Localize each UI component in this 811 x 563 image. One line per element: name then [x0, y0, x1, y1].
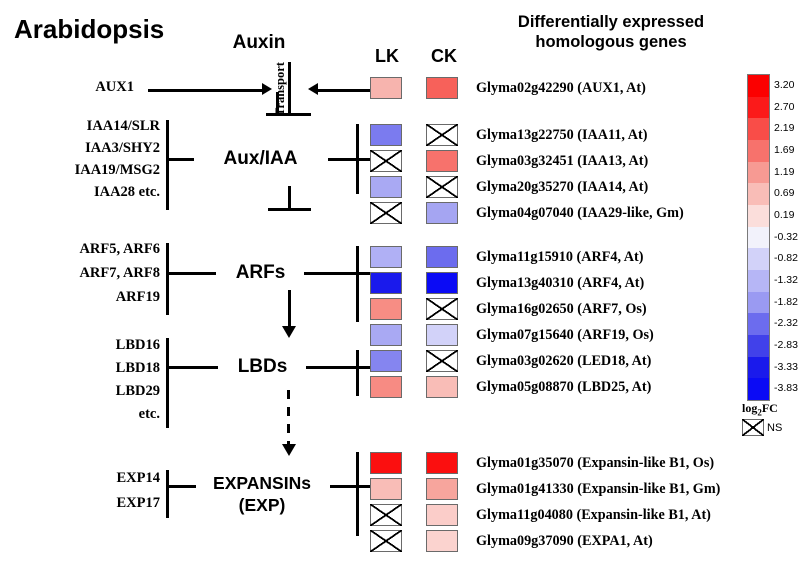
colorbar-tick-label: -2.32 — [774, 317, 798, 329]
heatmap-cell-ck[interactable] — [426, 452, 458, 474]
heatmap-block-arfs: Glyma11g15910 (ARF4, At)Glyma13g40310 (A… — [370, 246, 654, 350]
colorbar-segment — [748, 162, 769, 184]
heatmap-block-lbds: Glyma03g02620 (LED18, At)Glyma05g08870 (… — [370, 350, 651, 402]
gene-id-label: Glyma07g15640 (ARF19, Os) — [476, 327, 654, 344]
gene-id-label: Glyma05g08870 (LBD25, At) — [476, 379, 651, 396]
gene-id-label: Glyma01g35070 (Expansin-like B1, Os) — [476, 455, 714, 472]
auxiaa-to-arfs-stem — [288, 186, 291, 210]
bracket-expansins-connector — [166, 485, 196, 488]
heatmap-cells — [370, 124, 458, 146]
colorbar-tick-label: 1.19 — [774, 166, 794, 178]
colorbar-tick-label: -1.32 — [774, 274, 798, 286]
auxiaa-heat-bracket — [356, 124, 359, 194]
heatmap-row: Glyma09g37090 (EXPA1, At) — [370, 530, 720, 552]
heatmap-cell-lk[interactable] — [370, 124, 402, 146]
lbds-to-expansins-dashed-line — [287, 390, 290, 446]
colorbar-tick-label: 0.19 — [774, 209, 794, 221]
legend-caption-text: log — [742, 401, 757, 415]
heatmap-cell-ck[interactable] — [426, 504, 458, 526]
heatmap-cells — [370, 478, 458, 500]
heatmap-cell-lk[interactable] — [370, 324, 402, 346]
gene-label: ARF7, ARF8 — [26, 266, 160, 281]
heatmap-cell-lk[interactable] — [370, 202, 402, 224]
gene-id-label: Glyma09g37090 (EXPA1, At) — [476, 533, 653, 550]
aux1-arrow-head — [262, 83, 272, 95]
expansins-heat-connector — [330, 485, 370, 488]
gene-group-expansins: EXP14 EXP17 — [54, 471, 160, 511]
gene-label: EXP14 — [54, 471, 160, 486]
gene-label: ARF19 — [26, 290, 160, 305]
gene-label: etc. — [42, 407, 160, 422]
heatmap-cell-lk[interactable] — [370, 77, 402, 99]
gene-id-label: Glyma03g02620 (LED18, At) — [476, 353, 651, 370]
heatmap-row: Glyma01g41330 (Expansin-like B1, Gm) — [370, 478, 720, 500]
heatmap-cells — [370, 246, 458, 268]
heatmap-cell-lk[interactable] — [370, 452, 402, 474]
colorbar-segment — [748, 205, 769, 227]
expansins-heat-bracket — [356, 452, 359, 536]
gene-label: IAA14/SLR — [30, 119, 160, 134]
heatmap-cell-ck[interactable] — [426, 298, 458, 320]
heatmap-cells — [370, 376, 458, 398]
heatmap-cell-ck[interactable] — [426, 202, 458, 224]
heatmap-row: Glyma01g35070 (Expansin-like B1, Os) — [370, 452, 720, 474]
colorbar-segment — [748, 140, 769, 162]
node-expansins-label2: (EXP) — [192, 494, 332, 516]
heatmap-cells — [370, 176, 458, 198]
heatmap-block-expansins: Glyma01g35070 (Expansin-like B1, Os)Glym… — [370, 452, 720, 556]
colorbar-legend — [747, 74, 770, 401]
column-header-ck: CK — [431, 46, 457, 67]
heatmap-row: Glyma03g32451 (IAA13, At) — [370, 150, 684, 172]
colorbar-segment — [748, 183, 769, 205]
node-expansins-label: EXPANSINs — [192, 472, 332, 494]
heatmap-row: Glyma13g40310 (ARF4, At) — [370, 272, 654, 294]
colorbar-tick-label: -3.33 — [774, 361, 798, 373]
heatmap-cells — [370, 530, 458, 552]
gene-group-auxiaa: IAA14/SLR IAA3/SHY2 IAA19/MSG2 IAA28 etc… — [30, 119, 160, 200]
auxiaa-to-arfs-bar — [268, 208, 311, 211]
colorbar-segment — [748, 357, 769, 379]
colorbar-segment — [748, 313, 769, 335]
gene-id-label: Glyma01g41330 (Expansin-like B1, Gm) — [476, 481, 720, 498]
gene-label: ARF5, ARF6 — [26, 242, 160, 257]
arfs-to-lbds-arrowhead — [282, 326, 296, 338]
heatmap-cell-lk[interactable] — [370, 504, 402, 526]
gene-id-label: Glyma13g40310 (ARF4, At) — [476, 275, 644, 292]
colorbar-tick-label: 3.20 — [774, 79, 794, 91]
heatmap-cell-lk[interactable] — [370, 298, 402, 320]
gene-label: LBD18 — [42, 361, 160, 376]
gene-label: LBD16 — [42, 338, 160, 353]
gene-id-label: Glyma03g32451 (IAA13, At) — [476, 153, 648, 170]
gene-id-label: Glyma02g42290 (AUX1, At) — [476, 80, 646, 97]
heatmap-cell-ck[interactable] — [426, 324, 458, 346]
heatmap-row: Glyma07g15640 (ARF19, Os) — [370, 324, 654, 346]
heatmap-cells — [370, 77, 458, 99]
heatmap-cells — [370, 452, 458, 474]
heatmap-cell-ck[interactable] — [426, 77, 458, 99]
colorbar-tick-label: 2.70 — [774, 101, 794, 113]
arfs-to-lbds-line — [288, 290, 291, 328]
lbds-heat-bracket — [356, 350, 359, 396]
gene-group-arfs: ARF5, ARF6 ARF7, ARF8 ARF19 — [26, 242, 160, 305]
bracket-lbds-connector — [166, 366, 218, 369]
gene-id-label: Glyma16g02650 (ARF7, Os) — [476, 301, 647, 318]
heatmap-cell-lk[interactable] — [370, 530, 402, 552]
legend-ns-key: NS — [742, 419, 782, 436]
right-header-line2: homologous genes — [466, 32, 756, 52]
heatmap-cell-ck[interactable] — [426, 478, 458, 500]
gene-id-label: Glyma11g04080 (Expansin-like B1, At) — [476, 507, 711, 524]
heatmap-cells — [370, 350, 458, 372]
heatmap-cells — [370, 150, 458, 172]
bracket-arfs-connector — [166, 272, 216, 275]
colorbar-segment — [748, 75, 769, 97]
colorbar-tick-label: 1.69 — [774, 144, 794, 156]
heatmap-cell-lk[interactable] — [370, 376, 402, 398]
heatmap-cell-lk[interactable] — [370, 478, 402, 500]
aux1-arrow-line — [148, 89, 264, 92]
heatmap-cells — [370, 272, 458, 294]
heatmap-row: Glyma03g02620 (LED18, At) — [370, 350, 651, 372]
heatmap-cell-ck[interactable] — [426, 350, 458, 372]
bracket-auxiaa-connector — [166, 158, 194, 161]
colorbar-tick-label: 2.19 — [774, 122, 794, 134]
heatmap-row: Glyma11g15910 (ARF4, At) — [370, 246, 654, 268]
colorbar-tick-label: -0.82 — [774, 252, 798, 264]
colorbar — [747, 74, 770, 401]
heatmap-cell-ck[interactable] — [426, 176, 458, 198]
colorbar-tick-label: -0.32 — [774, 231, 798, 243]
colorbar-segment — [748, 248, 769, 270]
auxin-row-connector-head — [308, 83, 318, 95]
heatmap-cell-ck[interactable] — [426, 272, 458, 294]
colorbar-segment — [748, 378, 769, 400]
lbds-heat-connector — [306, 366, 370, 369]
auxiaa-heat-connector — [328, 158, 370, 161]
heatmap-cell-lk[interactable] — [370, 246, 402, 268]
column-header-lk: LK — [375, 46, 399, 67]
node-auxin: Auxin — [204, 32, 314, 54]
bracket-arfs — [166, 243, 169, 315]
page-title: Arabidopsis — [14, 14, 164, 45]
heatmap-row: Glyma05g08870 (LBD25, At) — [370, 376, 651, 398]
colorbar-tick-label: 0.69 — [774, 187, 794, 199]
heatmap-cell-lk[interactable] — [370, 176, 402, 198]
bracket-auxiaa — [166, 120, 169, 210]
heatmap-cell-ck[interactable] — [426, 376, 458, 398]
legend-ns-label: NS — [767, 422, 782, 434]
colorbar-segment — [748, 118, 769, 140]
ns-swatch-icon — [742, 419, 764, 436]
heatmap-cell-ck[interactable] — [426, 246, 458, 268]
arfs-heat-bracket — [356, 246, 359, 322]
bracket-expansins — [166, 470, 169, 518]
lbds-to-expansins-arrowhead — [282, 444, 296, 456]
gene-label-aux1: AUX1 — [44, 80, 134, 95]
heatmap-cells — [370, 324, 458, 346]
heatmap-cell-ck[interactable] — [426, 530, 458, 552]
colorbar-tick-label: -3.83 — [774, 382, 798, 394]
gene-label: IAA28 etc. — [30, 185, 160, 200]
colorbar-segment — [748, 270, 769, 292]
node-lbds: LBDs — [220, 356, 305, 378]
node-arfs: ARFs — [218, 262, 303, 284]
gene-label: EXP17 — [54, 496, 160, 511]
heatmap-cell-lk[interactable] — [370, 150, 402, 172]
gene-id-label: Glyma04g07040 (IAA29-like, Gm) — [476, 205, 684, 222]
right-header: Differentially expressed homologous gene… — [466, 12, 756, 52]
heatmap-cell-ck[interactable] — [426, 150, 458, 172]
heatmap-row: Glyma02g42290 (AUX1, At) — [370, 77, 646, 99]
colorbar-segment — [748, 292, 769, 314]
heatmap-cells — [370, 298, 458, 320]
heatmap-row: Glyma04g07040 (IAA29-like, Gm) — [370, 202, 684, 224]
heatmap-cell-ck[interactable] — [426, 124, 458, 146]
gene-label: IAA19/MSG2 — [30, 163, 160, 178]
gene-id-label: Glyma11g15910 (ARF4, At) — [476, 249, 643, 266]
colorbar-segment — [748, 97, 769, 119]
node-expansins: EXPANSINs (EXP) — [192, 472, 332, 516]
legend-caption: log2FC — [742, 401, 778, 417]
right-header-line1: Differentially expressed — [466, 12, 756, 32]
bracket-lbds — [166, 338, 169, 428]
auxin-transport-bar — [266, 113, 311, 116]
gene-label: LBD29 — [42, 384, 160, 399]
heatmap-row: Glyma11g04080 (Expansin-like B1, At) — [370, 504, 720, 526]
gene-id-label: Glyma13g22750 (IAA11, At) — [476, 127, 647, 144]
colorbar-tick-label: -2.83 — [774, 339, 798, 351]
gene-label: IAA3/SHY2 — [30, 141, 160, 156]
gene-id-label: Glyma20g35270 (IAA14, At) — [476, 179, 648, 196]
heatmap-block-auxiaa: Glyma13g22750 (IAA11, At)Glyma03g32451 (… — [370, 124, 684, 228]
arfs-heat-connector — [304, 272, 370, 275]
heatmap-cell-lk[interactable] — [370, 350, 402, 372]
colorbar-segment — [748, 227, 769, 249]
colorbar-segment — [748, 335, 769, 357]
transport-stem — [288, 62, 291, 114]
heatmap-cells — [370, 202, 458, 224]
colorbar-tick-label: -1.82 — [774, 296, 798, 308]
heatmap-cells — [370, 504, 458, 526]
heatmap-row: Glyma16g02650 (ARF7, Os) — [370, 298, 654, 320]
heatmap-row: Glyma13g22750 (IAA11, At) — [370, 124, 684, 146]
auxin-row-tick — [356, 89, 370, 92]
heatmap-block-auxin: Glyma02g42290 (AUX1, At) — [370, 77, 646, 103]
gene-group-lbds: LBD16 LBD18 LBD29 etc. — [42, 338, 160, 422]
node-aux-iaa: Aux/IAA — [193, 148, 328, 170]
heatmap-row: Glyma20g35270 (IAA14, At) — [370, 176, 684, 198]
heatmap-cell-lk[interactable] — [370, 272, 402, 294]
